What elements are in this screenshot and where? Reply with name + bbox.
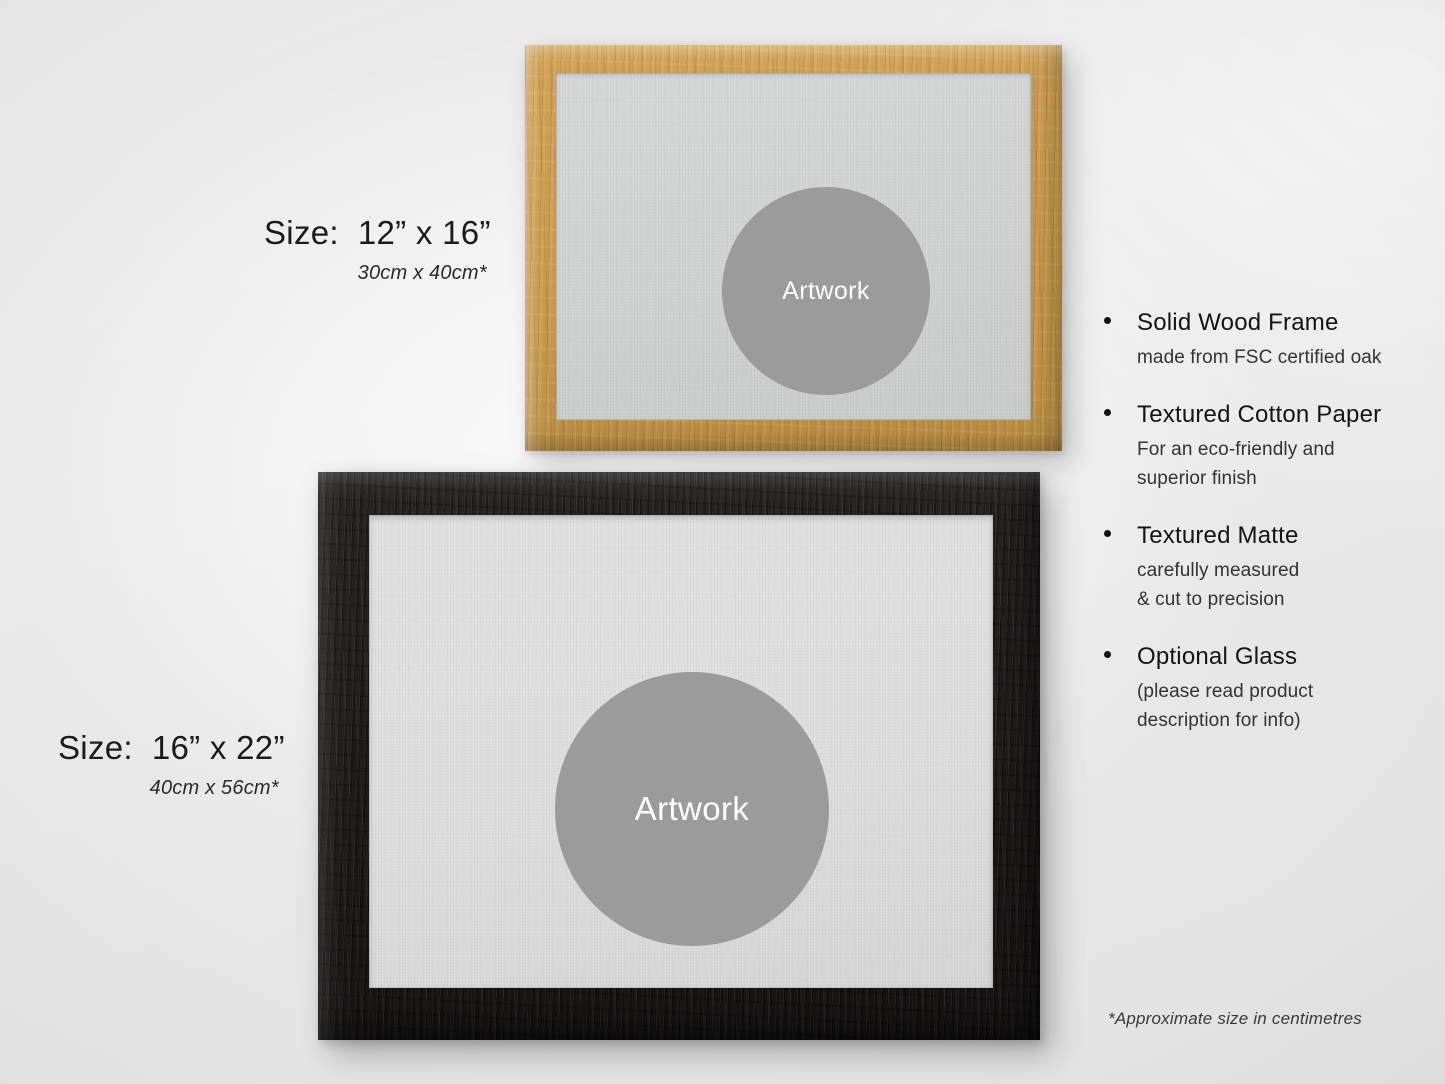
framed-artwork-black[interactable]: Artwork <box>318 472 1040 1040</box>
feature-item-textured-cotton-paper: Textured Cotton Paper For an eco-friendl… <box>1104 402 1434 493</box>
size-label-oak-imperial: Size: 12” x 16” <box>264 214 491 252</box>
feature-description: made from FSC certified oak <box>1137 344 1434 373</box>
size-label-black-prefix: Size: <box>58 729 133 766</box>
size-label-oak-dimensions: 12” x 16” <box>358 214 491 251</box>
mat-board-oak: Artwork <box>556 73 1031 420</box>
feature-title: Solid Wood Frame <box>1137 310 1339 337</box>
feature-item-solid-wood-frame: Solid Wood Frame made from FSC certified… <box>1104 310 1434 372</box>
feature-item-optional-glass: Optional Glass (please read productdescr… <box>1104 644 1434 735</box>
size-label-black: Size: 16” x 22” 40cm x 56cm* <box>58 729 285 800</box>
bullet-dot-icon <box>1104 530 1111 537</box>
size-label-black-metric: 40cm x 56cm* <box>58 777 285 800</box>
footnote-approximate-size: *Approximate size in centimetres <box>1108 1009 1362 1029</box>
bullet-dot-icon <box>1104 651 1111 658</box>
artwork-placeholder-circle-oak: Artwork <box>722 187 930 395</box>
feature-item-textured-matte: Textured Matte carefully measured& cut t… <box>1104 523 1434 614</box>
feature-description: (please read productdescription for info… <box>1137 678 1434 735</box>
feature-title: Textured Cotton Paper <box>1137 402 1381 429</box>
size-label-oak-prefix: Size: <box>264 214 339 251</box>
size-label-oak-metric: 30cm x 40cm* <box>264 262 491 285</box>
artwork-placeholder-circle-black: Artwork <box>555 672 829 946</box>
framed-artwork-oak[interactable]: Artwork <box>525 45 1062 451</box>
size-label-black-imperial: Size: 16” x 22” <box>58 729 285 767</box>
feature-list: Solid Wood Frame made from FSC certified… <box>1104 310 1434 765</box>
feature-title: Optional Glass <box>1137 644 1297 671</box>
bullet-dot-icon <box>1104 409 1111 416</box>
size-label-black-dimensions: 16” x 22” <box>152 729 285 766</box>
mat-board-black: Artwork <box>369 515 993 988</box>
bullet-dot-icon <box>1104 317 1111 324</box>
size-label-oak: Size: 12” x 16” 30cm x 40cm* <box>264 214 491 285</box>
feature-description: carefully measured& cut to precision <box>1137 557 1434 614</box>
feature-description: For an eco-friendly andsuperior finish <box>1137 436 1434 493</box>
feature-title: Textured Matte <box>1137 523 1299 550</box>
